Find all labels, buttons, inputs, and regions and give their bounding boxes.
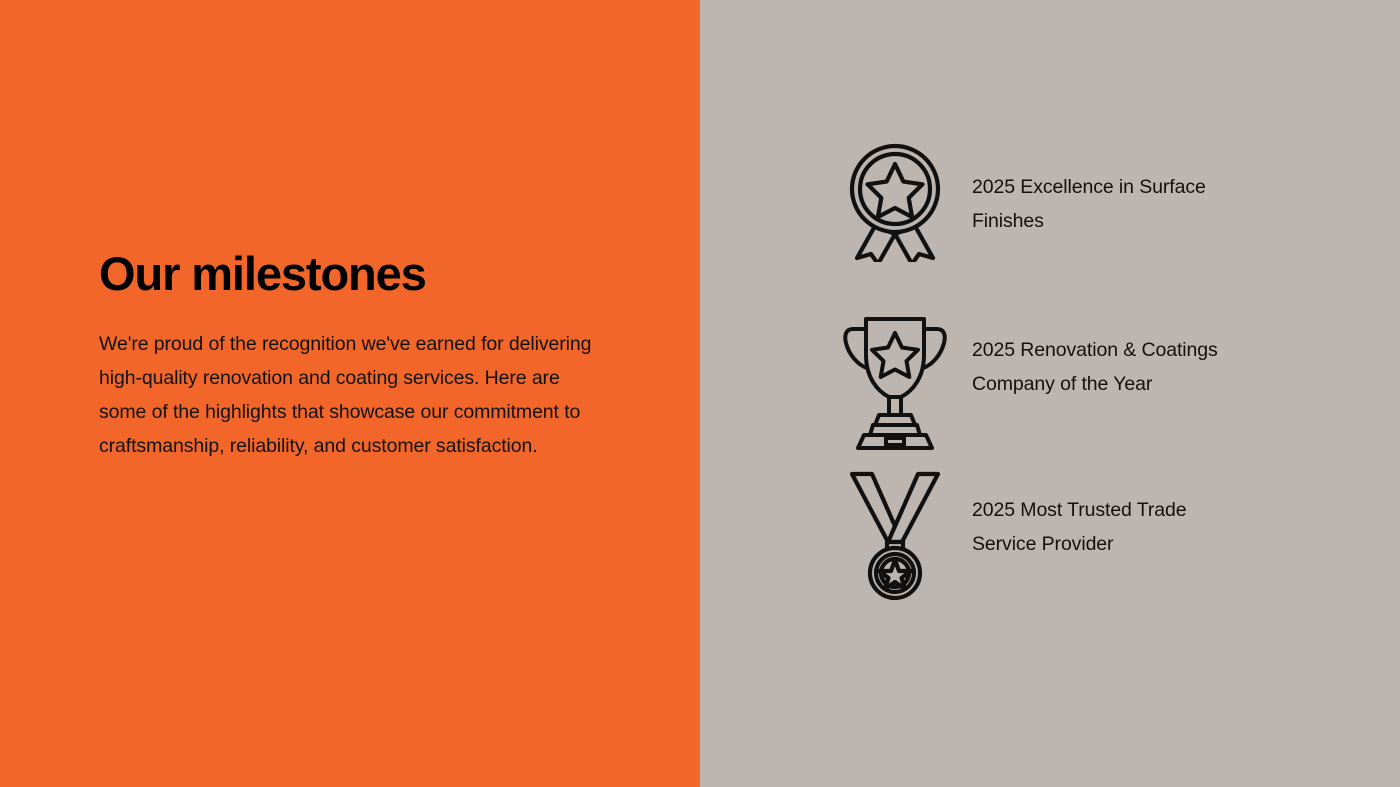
medal-ribbon-icon <box>840 466 950 596</box>
left-orange-panel: Our milestones We're proud of the recogn… <box>0 0 700 787</box>
award-item: 2025 Renovation & Coatings Company of th… <box>840 303 1320 466</box>
trophy-icon <box>840 303 950 433</box>
intro-paragraph: We're proud of the recognition we've ear… <box>99 327 599 463</box>
awards-list: 2025 Excellence in Surface Finishes <box>840 140 1320 629</box>
award-item: 2025 Excellence in Surface Finishes <box>840 140 1320 303</box>
award-label: 2025 Excellence in Surface Finishes <box>950 140 1250 238</box>
page-title: Our milestones <box>99 248 619 301</box>
award-item: 2025 Most Trusted Trade Service Provider <box>840 466 1320 629</box>
milestones-slide: Our milestones We're proud of the recogn… <box>0 0 1400 787</box>
award-label: 2025 Most Trusted Trade Service Provider <box>950 466 1250 561</box>
award-rosette-icon <box>840 140 950 270</box>
award-label: 2025 Renovation & Coatings Company of th… <box>950 303 1250 401</box>
right-grey-panel: 2025 Excellence in Surface Finishes <box>700 0 1400 787</box>
left-content-block: Our milestones We're proud of the recogn… <box>99 248 619 463</box>
